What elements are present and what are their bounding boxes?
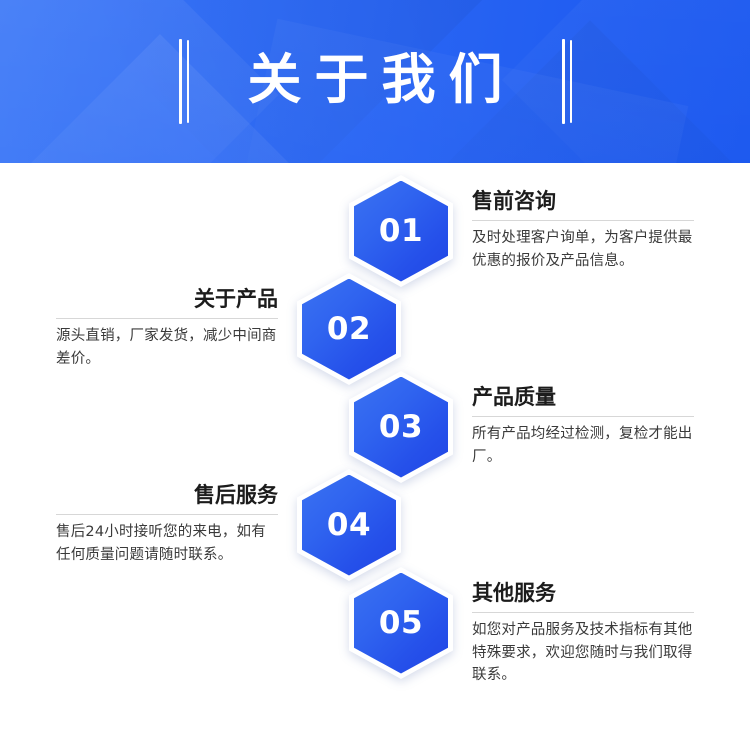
step-description: 及时处理客户询单，为客户提供最优惠的报价及产品信息。 (472, 227, 694, 272)
list-item: 01 售前咨询 及时处理客户询单，为客户提供最优惠的报价及产品信息。 (0, 175, 750, 287)
step-text-block: 关于产品 源头直销，厂家发货，减少中间商差价。 (56, 287, 278, 370)
page-title: 关于我们 (235, 53, 516, 111)
list-item: 04 售后服务 售后24小时接听您的来电，如有任何质量问题请随时联系。 (0, 469, 750, 581)
step-number: 04 (327, 510, 371, 541)
step-title: 产品质量 (472, 385, 694, 409)
step-description: 源头直销，厂家发货，减少中间商差价。 (56, 325, 278, 370)
step-title: 售后服务 (56, 483, 278, 507)
divider (56, 514, 278, 515)
banner-content: 关于我们 (0, 0, 750, 163)
divider (472, 220, 694, 221)
divider (472, 416, 694, 417)
step-badge-hexagon: 01 (349, 175, 453, 287)
page-banner: 关于我们 (0, 0, 750, 163)
about-us-steps-list: 01 售前咨询 及时处理客户询单，为客户提供最优惠的报价及产品信息。 02 关于… (0, 163, 750, 750)
step-text-block: 其他服务 如您对产品服务及技术指标有其他特殊要求，欢迎您随时与我们取得联系。 (472, 581, 694, 687)
step-text-block: 售前咨询 及时处理客户询单，为客户提供最优惠的报价及产品信息。 (472, 189, 694, 272)
step-text-block: 产品质量 所有产品均经过检测，复检才能出厂。 (472, 385, 694, 468)
list-item: 05 其他服务 如您对产品服务及技术指标有其他特殊要求，欢迎您随时与我们取得联系… (0, 567, 750, 679)
step-description: 如您对产品服务及技术指标有其他特殊要求，欢迎您随时与我们取得联系。 (472, 619, 694, 686)
step-description: 所有产品均经过检测，复检才能出厂。 (472, 423, 694, 468)
step-title: 售前咨询 (472, 189, 694, 213)
step-number: 02 (327, 314, 371, 345)
step-description: 售后24小时接听您的来电，如有任何质量问题请随时联系。 (56, 521, 278, 566)
vertical-rule-icon (562, 39, 565, 124)
list-item: 02 关于产品 源头直销，厂家发货，减少中间商差价。 (0, 273, 750, 385)
vertical-rule-icon (570, 40, 572, 123)
list-item: 03 产品质量 所有产品均经过检测，复检才能出厂。 (0, 371, 750, 483)
step-number: 01 (379, 216, 423, 247)
divider (56, 318, 278, 319)
step-number: 05 (379, 608, 423, 639)
banner-rule-left (179, 39, 189, 124)
step-title: 其他服务 (472, 581, 694, 605)
step-badge-hexagon: 02 (297, 273, 401, 385)
step-badge-hexagon: 04 (297, 469, 401, 581)
step-badge-hexagon: 03 (349, 371, 453, 483)
vertical-rule-icon (179, 39, 182, 124)
banner-rule-right (562, 39, 572, 124)
step-number: 03 (379, 412, 423, 443)
divider (472, 612, 694, 613)
step-text-block: 售后服务 售后24小时接听您的来电，如有任何质量问题请随时联系。 (56, 483, 278, 566)
vertical-rule-icon (187, 40, 189, 123)
step-badge-hexagon: 05 (349, 567, 453, 679)
step-title: 关于产品 (56, 287, 278, 311)
